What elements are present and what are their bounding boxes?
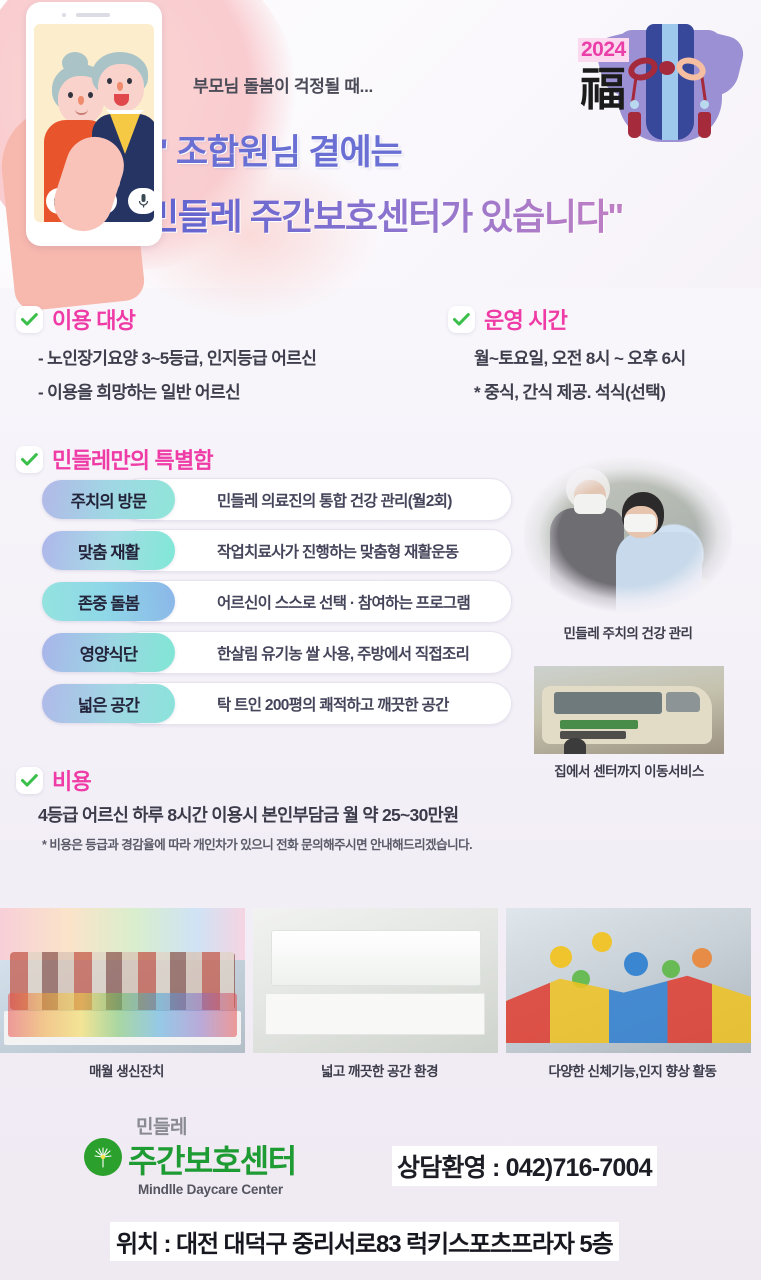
check-icon <box>16 446 43 473</box>
year-label: 2024 <box>578 38 629 62</box>
grandmother-eye-left <box>68 92 73 98</box>
gallery-photo-birthday <box>0 908 245 1053</box>
photo-doctor-visit <box>524 452 732 617</box>
photo-doctor-body <box>616 532 702 617</box>
photo-caption-van: 집에서 센터까지 이동서비스 <box>524 760 734 780</box>
grandmother-eye-right <box>88 92 93 98</box>
grandmother-bun <box>62 52 88 74</box>
gallery-people <box>10 952 235 1010</box>
gallery-caption-1: 매월 생신잔치 <box>0 1060 253 1080</box>
gift-bead-left <box>630 100 639 109</box>
gallery-balloon <box>692 948 712 968</box>
new-year-gift-illustration: 2024 福 <box>566 8 751 158</box>
grandfather-mouth <box>114 94 129 106</box>
feature-item: 민들레 의료진의 통합 건강 관리(월2회) 주치의 방문 <box>42 478 512 521</box>
gallery-captions: 매월 생신잔치 넓고 깨끗한 공간 환경 다양한 신체기능,인지 향상 활동 <box>0 1060 761 1080</box>
logo-subtitle: 민들레 <box>136 1112 187 1139</box>
section-hours: 운영 시간 월~토요일, 오전 8시 ~ 오후 6시 * 중식, 간식 제공. … <box>448 303 758 403</box>
gift-bead-right <box>700 100 709 109</box>
feature-item: 작업치료사가 진행하는 맞춤형 재활운동 맞춤 재활 <box>42 529 512 572</box>
feature-description: 작업치료사가 진행하는 맞춤형 재활운동 <box>217 540 458 562</box>
cost-main-text: 4등급 어르신 하루 8시간 이용시 본인부담금 월 약 25~30만원 <box>38 802 458 827</box>
section-target-header: 이용 대상 <box>16 303 436 335</box>
features-list: 민들레 의료진의 통합 건강 관리(월2회) 주치의 방문 작업치료사가 진행하… <box>42 478 512 733</box>
photo-shuttle-van <box>534 666 724 754</box>
gift-tassel-left <box>628 112 641 138</box>
header-tagline: 부모님 돌봄이 걱정될 때... <box>193 72 373 97</box>
check-icon <box>448 306 475 333</box>
feature-badge: 주치의 방문 <box>42 480 175 519</box>
check-icon <box>16 306 43 333</box>
phone-camera-dot <box>62 13 66 17</box>
feature-card: 작업치료사가 진행하는 맞춤형 재활운동 <box>120 529 512 572</box>
gallery-photo-facility <box>253 908 498 1053</box>
target-line-2: - 이용을 희망하는 일반 어르신 <box>38 378 436 403</box>
section-features-title: 민들레만의 특별함 <box>52 443 213 475</box>
gallery-balloon <box>572 970 590 988</box>
feature-item: 한살림 유기농 쌀 사용, 주방에서 직접조리 영양식단 <box>42 631 512 674</box>
gallery-balloon <box>592 932 612 952</box>
headline-line-2: 민들레 주간보호센터가 있습니다" <box>146 188 623 240</box>
feature-description: 어르신이 스스로 선택 · 참여하는 프로그램 <box>217 591 470 613</box>
feature-card: 어르신이 스스로 선택 · 참여하는 프로그램 <box>120 580 512 623</box>
header-section: 부모님 돌봄이 걱정될 때... " 조합원님 곁에는 민들레 주간보호센터가 … <box>0 0 761 288</box>
grandmother-mouth <box>75 109 88 115</box>
cost-note-text: * 비용은 등급과 경감율에 따라 개인차가 있으니 전화 문의해주시면 안내해… <box>42 834 472 853</box>
van-logo-text <box>560 720 638 729</box>
fu-character: 福 <box>580 66 626 112</box>
mic-icon[interactable] <box>128 188 154 214</box>
photo-gallery <box>0 908 761 1053</box>
gift-bow-knot <box>659 61 675 75</box>
hours-line-2: * 중식, 간식 제공. 석식(선택) <box>474 378 758 403</box>
feature-description: 민들레 의료진의 통합 건강 관리(월2회) <box>217 489 452 511</box>
contact-phone[interactable]: 상담환영 : 042)716-7004 <box>392 1146 657 1186</box>
section-target: 이용 대상 - 노인장기요양 3~5등급, 인지등급 어르신 - 이용을 희망하… <box>16 303 436 403</box>
gallery-balloon <box>624 952 648 976</box>
photo-caption-doctor: 민들레 주치의 건강 관리 <box>524 622 732 642</box>
feature-item: 어르신이 스스로 선택 · 참여하는 프로그램 존중 돌봄 <box>42 580 512 623</box>
phone-speaker-notch <box>76 13 110 17</box>
section-hours-header: 운영 시간 <box>448 303 758 335</box>
check-icon <box>16 767 43 794</box>
gallery-balloon <box>550 946 572 968</box>
gallery-counter <box>265 993 485 1035</box>
grandfather-face <box>98 64 144 112</box>
hours-line-1: 월~토요일, 오전 8시 ~ 오후 6시 <box>474 344 758 369</box>
gallery-caption-2: 넓고 깨끗한 공간 환경 <box>253 1060 506 1080</box>
gift-tassel-right <box>698 112 711 138</box>
section-features: 민들레만의 특별함 <box>16 443 213 475</box>
poster-root: 부모님 돌봄이 걱정될 때... " 조합원님 곁에는 민들레 주간보호센터가 … <box>0 0 761 1280</box>
section-cost-title: 비용 <box>52 764 91 796</box>
gallery-caption-3: 다양한 신체기능,인지 향상 활동 <box>506 1060 759 1080</box>
feature-badge: 넓은 공간 <box>42 684 175 723</box>
section-target-title: 이용 대상 <box>52 303 135 335</box>
gallery-balloon <box>662 960 680 978</box>
van-windshield <box>666 692 700 712</box>
feature-badge: 맞춤 재활 <box>42 531 175 570</box>
feature-card: 탁 트인 200평의 쾌적하고 깨끗한 공간 <box>120 682 512 725</box>
grandfather-eye-right <box>127 78 132 84</box>
section-cost-header: 비용 <box>16 764 91 796</box>
photo-elderly-mask <box>574 494 606 514</box>
section-cost: 비용 <box>16 764 91 796</box>
gift-stripe <box>662 24 678 140</box>
feature-description: 한살림 유기농 쌀 사용, 주방에서 직접조리 <box>217 642 469 664</box>
grandfather-nose <box>117 82 123 91</box>
van-wheel <box>564 738 586 754</box>
photo-elderly-body <box>550 508 624 617</box>
feature-card: 한살림 유기농 쌀 사용, 주방에서 직접조리 <box>120 631 512 674</box>
target-line-1: - 노인장기요양 3~5등급, 인지등급 어르신 <box>38 344 436 369</box>
van-window <box>554 692 662 714</box>
grandmother-nose <box>78 96 84 105</box>
feature-badge: 존중 돌봄 <box>42 582 175 621</box>
section-hours-title: 운영 시간 <box>484 303 567 335</box>
grandfather-eye-left <box>107 78 112 84</box>
feature-card: 민들레 의료진의 통합 건강 관리(월2회) <box>120 478 512 521</box>
feature-badge: 영양식단 <box>42 633 175 672</box>
feature-item: 탁 트인 200평의 쾌적하고 깨끗한 공간 넓은 공간 <box>42 682 512 725</box>
section-features-header: 민들레만의 특별함 <box>16 443 213 475</box>
photo-doctor-mask <box>624 514 656 532</box>
contact-address: 위치 : 대전 대덕구 중리서로83 럭키스포츠프라자 5층 <box>110 1222 619 1261</box>
dandelion-logo-icon <box>84 1138 122 1176</box>
logo-main-title: 주간보호센터 <box>128 1136 296 1182</box>
feature-description: 탁 트인 200평의 쾌적하고 깨끗한 공간 <box>217 693 449 715</box>
gallery-photo-activity <box>506 908 751 1053</box>
logo-english-name: Mindlle Daycare Center <box>138 1182 283 1197</box>
headline-line-1: " 조합원님 곁에는 <box>152 124 401 175</box>
gallery-table <box>4 1011 241 1045</box>
